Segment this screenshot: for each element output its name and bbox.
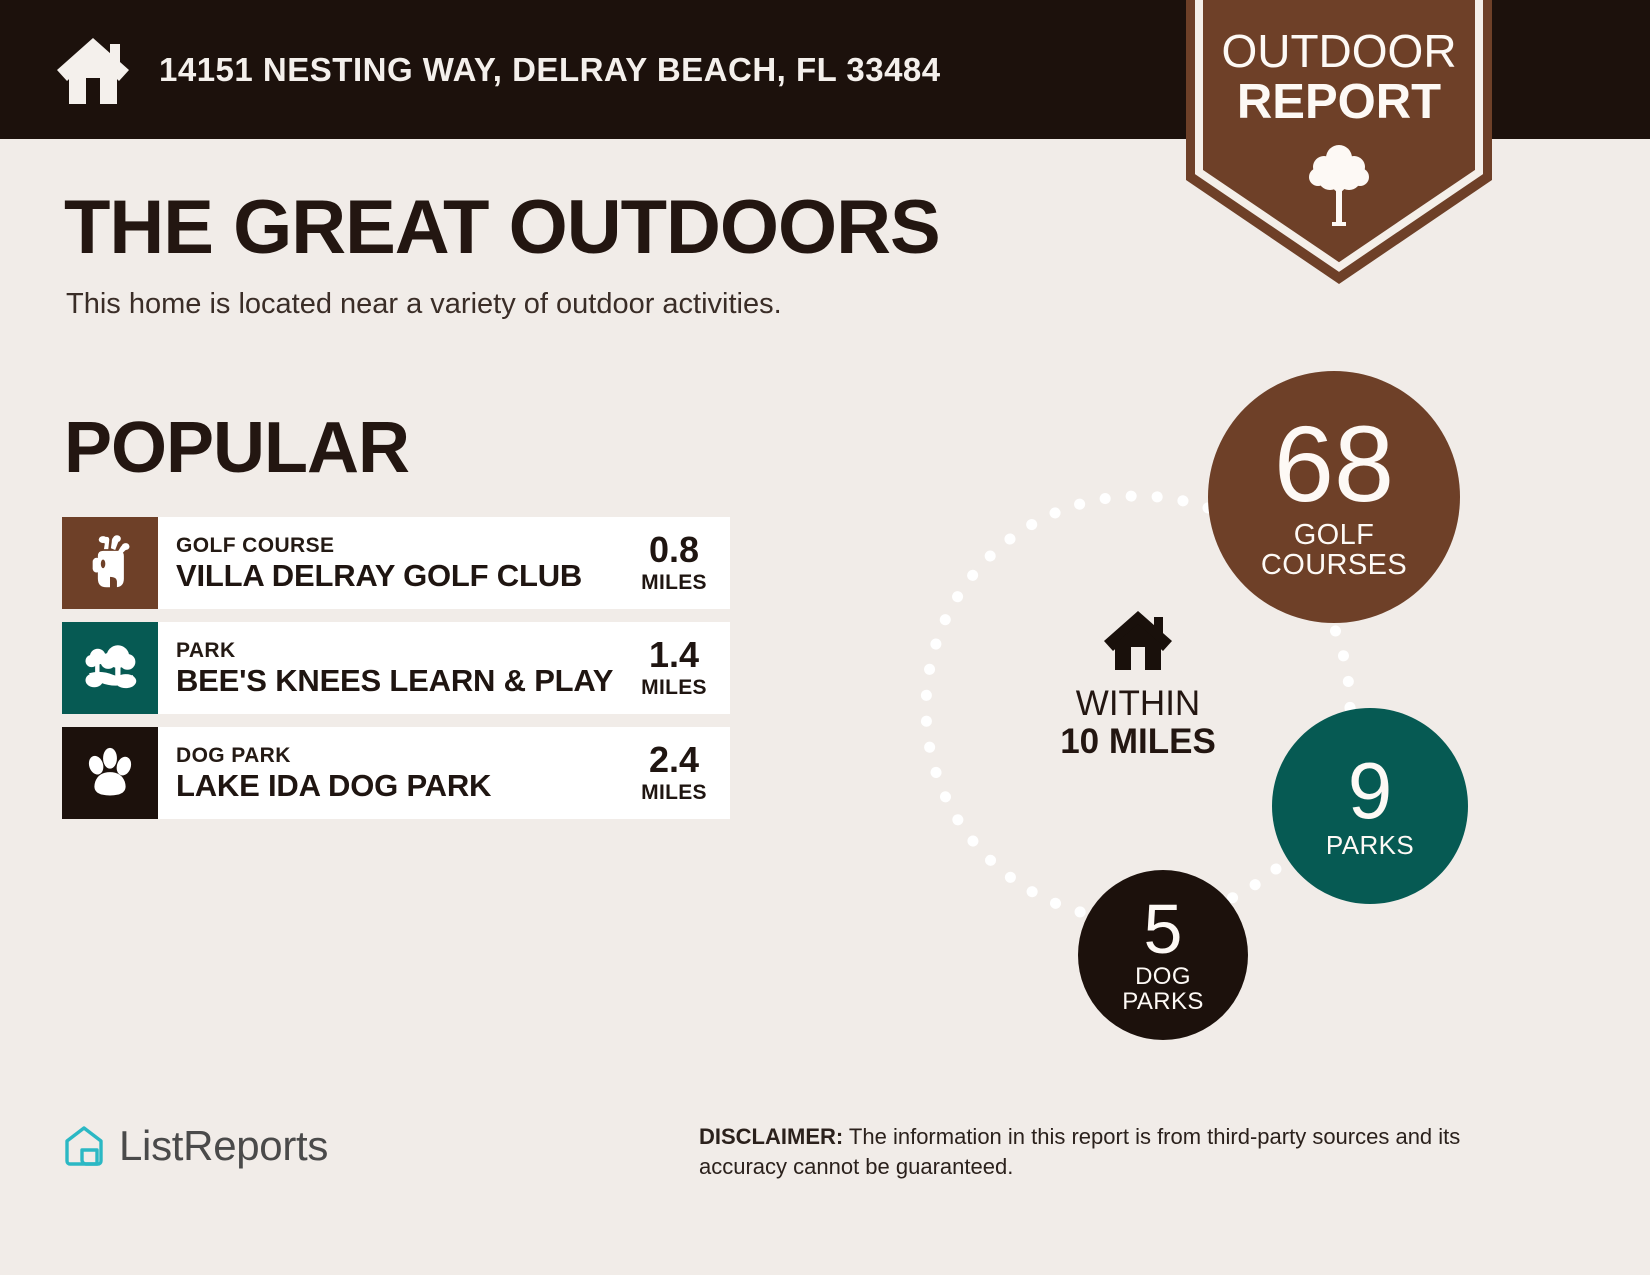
listreports-logo: ListReports	[62, 1122, 328, 1170]
stat-label-line1: DOG	[1135, 964, 1191, 989]
listreports-wordmark: ListReports	[119, 1122, 328, 1170]
list-item-body: GOLF COURSE VILLA DELRAY GOLF CLUB	[158, 517, 626, 609]
disclaimer: DISCLAIMER: The information in this repo…	[699, 1122, 1499, 1181]
distance-unit: MILES	[641, 676, 707, 700]
stat-label-line2: PARKS	[1122, 989, 1204, 1014]
stat-golf-courses: 68 GOLF COURSES	[1208, 371, 1460, 623]
list-item-body: DOG PARK LAKE IDA DOG PARK	[158, 727, 626, 819]
stat-parks: 9 PARKS	[1272, 708, 1468, 904]
stat-dog-parks: 5 DOG PARKS	[1078, 870, 1248, 1040]
stat-label-line1: PARKS	[1326, 832, 1414, 859]
tree-icon	[1308, 142, 1370, 228]
popular-list: GOLF COURSE VILLA DELRAY GOLF CLUB 0.8 M…	[62, 517, 730, 832]
list-item[interactable]: GOLF COURSE VILLA DELRAY GOLF CLUB 0.8 M…	[62, 517, 730, 609]
paw-print-icon	[62, 727, 158, 819]
center-within-label: WITHIN	[1076, 686, 1200, 723]
distance-value: 1.4	[649, 637, 699, 673]
diagram-center: WITHIN 10 MILES	[1028, 608, 1248, 761]
disclaimer-label: DISCLAIMER:	[699, 1124, 843, 1149]
page-title: THE GREAT OUTDOORS	[64, 190, 940, 266]
stat-label-line2: COURSES	[1261, 550, 1407, 580]
listreports-house-icon	[62, 1124, 106, 1168]
stat-value: 9	[1348, 753, 1393, 829]
header-address: 14151 NESTING WAY, DELRAY BEACH, FL 3348…	[159, 51, 941, 89]
list-item-category: PARK	[176, 639, 613, 663]
within-10-miles-diagram: WITHIN 10 MILES 68 GOLF COURSES 9 PARKS …	[850, 330, 1590, 1090]
home-icon	[1102, 608, 1174, 672]
badge-title: OUTDOOR REPORT	[1186, 28, 1492, 127]
list-item-body: PARK BEE'S KNEES LEARN & PLAY	[158, 622, 626, 714]
home-icon	[55, 34, 131, 106]
distance-value: 0.8	[649, 532, 699, 568]
list-item-name: LAKE IDA DOG PARK	[176, 770, 491, 803]
outdoor-report-badge: OUTDOOR REPORT	[1186, 0, 1492, 284]
list-item-category: DOG PARK	[176, 744, 491, 768]
list-item-distance: 1.4 MILES	[626, 622, 730, 714]
list-item[interactable]: PARK BEE'S KNEES LEARN & PLAY 1.4 MILES	[62, 622, 730, 714]
stat-label-line1: GOLF	[1294, 520, 1375, 550]
stat-value: 68	[1274, 413, 1394, 516]
distance-unit: MILES	[641, 781, 707, 805]
popular-heading: POPULAR	[64, 412, 409, 484]
list-item-distance: 0.8 MILES	[626, 517, 730, 609]
park-trees-icon	[62, 622, 158, 714]
page-subtitle: This home is located near a variety of o…	[66, 288, 782, 321]
center-miles-label: 10 MILES	[1060, 723, 1216, 762]
stat-value: 5	[1144, 896, 1183, 963]
golf-bag-icon	[62, 517, 158, 609]
list-item-category: GOLF COURSE	[176, 534, 582, 558]
list-item-distance: 2.4 MILES	[626, 727, 730, 819]
distance-value: 2.4	[649, 742, 699, 778]
badge-line2: REPORT	[1186, 78, 1492, 127]
list-item-name: BEE'S KNEES LEARN & PLAY	[176, 665, 613, 698]
badge-line1: OUTDOOR	[1186, 28, 1492, 74]
list-item[interactable]: DOG PARK LAKE IDA DOG PARK 2.4 MILES	[62, 727, 730, 819]
list-item-name: VILLA DELRAY GOLF CLUB	[176, 560, 582, 593]
distance-unit: MILES	[641, 571, 707, 595]
